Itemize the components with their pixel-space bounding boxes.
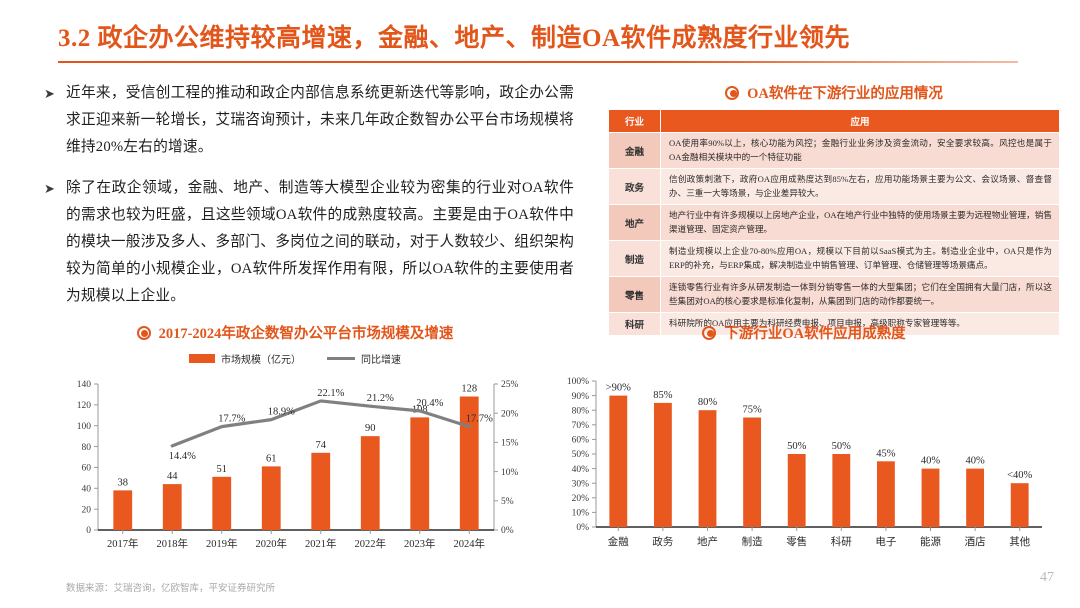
cell-application: 制造业规模以上企业70-80%应用OA，规模以下目前以SaaS模式为主。制造业企… xyxy=(661,241,1060,277)
legend-label: 同比增速 xyxy=(361,351,401,366)
x-tick-label: 酒店 xyxy=(965,535,986,548)
y-tick-label: 10% xyxy=(572,509,590,519)
y-tick-label: 80% xyxy=(572,406,590,416)
bar-value-label: 38 xyxy=(118,477,129,488)
chart-title: 2017-2024年政企数智办公平台市场规模及增速 xyxy=(159,322,454,343)
y-tick-label: 100% xyxy=(567,377,589,387)
cell-industry: 制造 xyxy=(609,241,661,277)
column-header-industry: 行业 xyxy=(609,110,661,133)
bar xyxy=(163,484,182,530)
bullet-arrow-icon: ➤ xyxy=(44,80,66,161)
bullet-dot-icon xyxy=(725,86,739,100)
x-tick-label: 其他 xyxy=(1009,535,1030,548)
bullet-dot-icon xyxy=(137,326,151,340)
slide-page: 3.2 政企办公维持较高增速，金融、地产、制造OA软件成熟度行业领先 ➤ 近年来… xyxy=(0,0,1080,608)
legend-swatch-icon xyxy=(189,354,215,363)
cell-application: 地产行业中有许多规模以上房地产企业，OA在地产行业中独特的使用场景主要为远程物业… xyxy=(661,205,1060,241)
bar xyxy=(922,469,940,527)
table-header-row: 行业 应用 xyxy=(609,110,1060,133)
cell-industry: 零售 xyxy=(609,277,661,313)
cell-application: OA使用率90%以上，核心功能为风控；金融行业业务涉及资金流动，安全要求较高。风… xyxy=(661,133,1060,169)
x-tick-label: 零售 xyxy=(786,535,807,548)
line-value-label: 17.7% xyxy=(466,414,493,425)
title-divider xyxy=(58,61,1018,63)
oa-maturity-svg: 0%10%20%30%40%50%60%70%80%90%100%>90%金融8… xyxy=(556,369,1056,565)
y-tick-label: 60% xyxy=(572,436,590,446)
y-tick-label-right: 15% xyxy=(501,439,519,449)
table-row: 地产 地产行业中有许多规模以上房地产企业，OA在地产行业中独特的使用场景主要为远… xyxy=(609,205,1060,241)
table-caption-label: OA软件在下游行业的应用情况 xyxy=(747,82,943,103)
bar-value-label: 80% xyxy=(698,397,718,408)
x-tick-label: 政务 xyxy=(652,535,673,548)
x-tick-label: 2021年 xyxy=(305,537,337,550)
x-tick-label: 2018年 xyxy=(157,537,189,550)
bar xyxy=(361,436,380,530)
line-value-label: 17.7% xyxy=(218,414,245,425)
x-tick-label: 电子 xyxy=(875,535,896,548)
cell-industry: 政务 xyxy=(609,169,661,205)
list-item: ➤ 除了在政企领域，金融、地产、制造等大模型企业较为密集的行业对OA软件的需求也… xyxy=(44,175,574,310)
bar-value-label: 51 xyxy=(217,464,228,475)
bar xyxy=(212,477,231,530)
table-row: 制造 制造业规模以上企业70-80%应用OA，规模以下目前以SaaS模式为主。制… xyxy=(609,241,1060,277)
bar xyxy=(113,490,132,530)
y-tick-label: 90% xyxy=(572,392,590,402)
y-tick-label-left: 20 xyxy=(82,505,92,515)
legend-item-growth-rate: 同比增速 xyxy=(327,351,401,366)
oa-application-table-block: OA软件在下游行业的应用情况 行业 应用 金融 OA使用率90%以上，核心功能为… xyxy=(608,82,1060,336)
bar-value-label: >90% xyxy=(606,383,631,394)
bar-value-label: 128 xyxy=(461,384,477,395)
oa-application-table: 行业 应用 金融 OA使用率90%以上，核心功能为风控；金融行业业务涉及资金流动… xyxy=(608,109,1060,336)
body-bullet-list: ➤ 近年来，受信创工程的推动和政企内部信息系统更新迭代等影响，政企办公需求正迎来… xyxy=(44,80,574,324)
source-note: 数据来源：艾瑞咨询，亿欧智库，平安证券研究所 xyxy=(66,580,275,594)
market-size-svg: 0204060801001201400%5%10%15%20%25%382017… xyxy=(62,370,532,566)
x-tick-label: 金融 xyxy=(608,535,629,548)
y-tick-label-left: 80 xyxy=(82,443,92,453)
y-tick-label-right: 10% xyxy=(501,468,519,478)
cell-industry: 地产 xyxy=(609,205,661,241)
bar-value-label: 40% xyxy=(921,456,941,467)
y-tick-label-left: 0 xyxy=(86,526,91,536)
x-tick-label: 2020年 xyxy=(256,537,288,550)
line-value-label: 14.4% xyxy=(169,451,196,462)
x-tick-label: 科研 xyxy=(831,535,852,548)
bar-value-label: 90 xyxy=(365,423,376,434)
bullet-arrow-icon: ➤ xyxy=(44,175,66,310)
y-tick-label-left: 100 xyxy=(77,422,92,432)
y-tick-label-left: 40 xyxy=(82,484,92,494)
bar-value-label: 50% xyxy=(832,441,852,452)
bar xyxy=(1011,483,1029,527)
bullet-dot-icon xyxy=(702,326,716,340)
y-tick-label-left: 60 xyxy=(82,464,92,474)
bar xyxy=(788,454,806,527)
x-tick-label: 2024年 xyxy=(454,537,486,550)
cell-industry: 金融 xyxy=(609,133,661,169)
y-tick-label-right: 0% xyxy=(501,526,514,536)
table-row: 零售 连锁零售行业有许多从研发制造一体到分销零售一体的大型集团；它们在全国拥有大… xyxy=(609,277,1060,313)
bar xyxy=(832,454,850,527)
y-tick-label: 40% xyxy=(572,465,590,475)
bar xyxy=(410,417,429,530)
bar-value-label: 85% xyxy=(653,390,673,401)
x-tick-label: 2019年 xyxy=(206,537,238,550)
bar xyxy=(699,410,717,527)
y-tick-label: 0% xyxy=(576,523,589,533)
bar-value-label: 61 xyxy=(266,453,277,464)
x-tick-label: 制造 xyxy=(742,535,764,548)
market-size-plot: 0204060801001201400%5%10%15%20%25%382017… xyxy=(62,370,532,566)
page-title: 3.2 政企办公维持较高增速，金融、地产、制造OA软件成熟度行业领先 xyxy=(58,18,1022,54)
slide-header: 3.2 政企办公维持较高增速，金融、地产、制造OA软件成熟度行业领先 xyxy=(58,18,1022,63)
legend-label: 市场规模（亿元） xyxy=(221,351,301,366)
bar-value-label: 45% xyxy=(876,448,896,459)
bar xyxy=(966,469,984,527)
bullet-paragraph: 近年来，受信创工程的推动和政企内部信息系统更新迭代等影响，政企办公需求正迎来新一… xyxy=(66,80,574,161)
chart-title: 下游行业OA软件应用成熟度 xyxy=(724,322,905,343)
table-row: 政务 信创政策刺激下，政府OA应用成熟度达到85%左右，应用功能场景主要为公文、… xyxy=(609,169,1060,205)
bar xyxy=(877,461,895,527)
bar xyxy=(609,396,627,527)
table-caption: OA软件在下游行业的应用情况 xyxy=(608,82,1060,103)
oa-maturity-chart-block: 下游行业OA软件应用成熟度 0%10%20%30%40%50%60%70%80%… xyxy=(548,322,1060,572)
x-tick-label: 2017年 xyxy=(107,537,139,550)
bullet-paragraph: 除了在政企领域，金融、地产、制造等大模型企业较为密集的行业对OA软件的需求也较为… xyxy=(66,175,574,310)
bar-value-label: 44 xyxy=(167,471,178,482)
bar xyxy=(262,466,281,530)
list-item: ➤ 近年来，受信创工程的推动和政企内部信息系统更新迭代等影响，政企办公需求正迎来… xyxy=(44,80,574,161)
line-value-label: 18.9% xyxy=(268,407,295,418)
x-tick-label: 2023年 xyxy=(404,537,436,550)
bar-value-label: 40% xyxy=(965,456,985,467)
y-tick-label: 20% xyxy=(572,494,590,504)
bar xyxy=(743,418,761,528)
y-tick-label-right: 25% xyxy=(501,380,519,390)
x-tick-label: 能源 xyxy=(920,535,941,548)
y-tick-label: 70% xyxy=(572,421,590,431)
x-tick-label: 2022年 xyxy=(355,537,387,550)
market-size-chart-block: 2017-2024年政企数智办公平台市场规模及增速 市场规模（亿元） 同比增速 … xyxy=(40,322,550,572)
bar xyxy=(311,453,330,530)
chart-caption: 2017-2024年政企数智办公平台市场规模及增速 xyxy=(40,322,550,343)
line-value-label: 21.2% xyxy=(367,393,394,404)
page-number: 47 xyxy=(1040,570,1054,586)
y-tick-label: 50% xyxy=(572,450,590,460)
cell-application: 信创政策刺激下，政府OA应用成熟度达到85%左右，应用功能场景主要为公文、会议场… xyxy=(661,169,1060,205)
y-tick-label-left: 120 xyxy=(77,401,92,411)
column-header-application: 应用 xyxy=(661,110,1060,133)
table-row: 金融 OA使用率90%以上，核心功能为风控；金融行业业务涉及资金流动，安全要求较… xyxy=(609,133,1060,169)
chart-caption: 下游行业OA软件应用成熟度 xyxy=(548,322,1060,343)
legend-item-market-size: 市场规模（亿元） xyxy=(189,351,301,366)
bar-value-label: <40% xyxy=(1007,470,1032,481)
legend-line-icon xyxy=(327,357,355,361)
bar-value-label: 50% xyxy=(787,441,807,452)
x-tick-label: 地产 xyxy=(697,535,718,548)
oa-maturity-plot: 0%10%20%30%40%50%60%70%80%90%100%>90%金融8… xyxy=(556,369,1056,565)
y-tick-label: 30% xyxy=(572,479,590,489)
bar-value-label: 75% xyxy=(742,405,762,416)
line-value-label: 20.4% xyxy=(416,398,443,409)
chart-legend: 市场规模（亿元） 同比增速 xyxy=(40,351,550,366)
y-tick-label-right: 5% xyxy=(501,497,514,507)
bar-value-label: 74 xyxy=(316,440,327,451)
y-tick-label-right: 20% xyxy=(501,409,519,419)
cell-application: 连锁零售行业有许多从研发制造一体到分销零售一体的大型集团；它们在全国拥有大量门店… xyxy=(661,277,1060,313)
y-tick-label-left: 140 xyxy=(77,380,92,390)
line-value-label: 22.1% xyxy=(317,388,344,399)
bar xyxy=(654,403,672,527)
